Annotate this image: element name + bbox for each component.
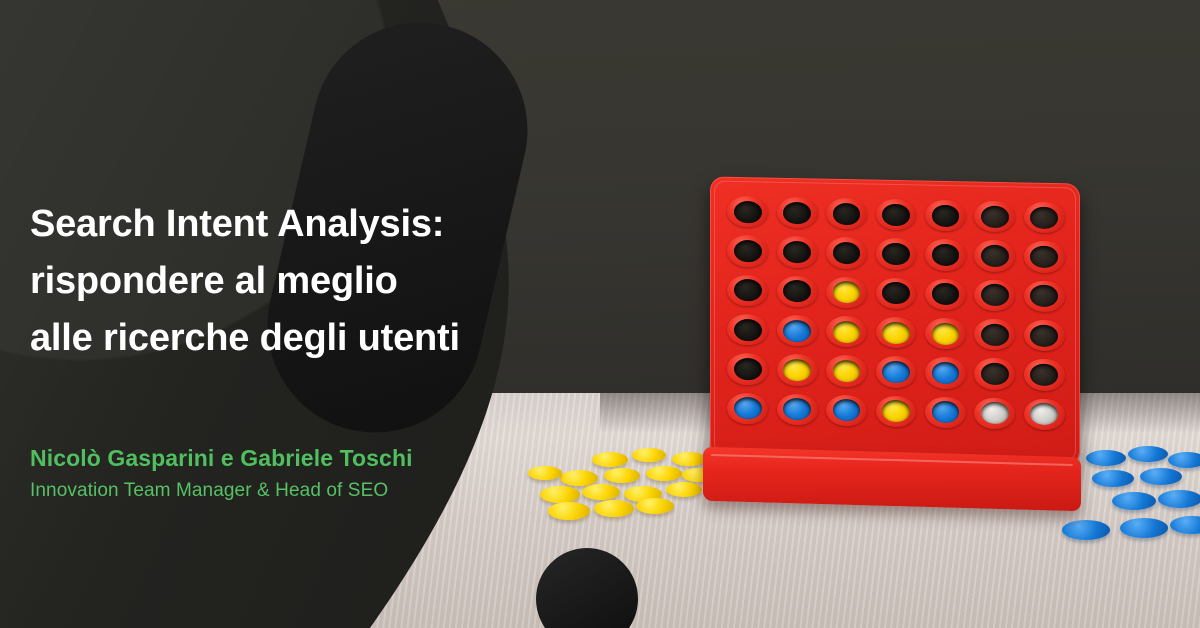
c4-slot-ring xyxy=(826,276,867,308)
c4-cell-r5-c2 xyxy=(773,351,820,389)
c4-empty-slot xyxy=(981,205,1009,227)
author-names: Nicolò Gasparini e Gabriele Toschi xyxy=(30,443,590,473)
loose-disc-blue xyxy=(1140,468,1182,485)
c4-cell-r3-c2 xyxy=(773,272,820,310)
c4-slot-ring xyxy=(1024,359,1065,391)
loose-disc-blue xyxy=(1112,492,1156,510)
c4-disc-blue xyxy=(783,398,811,420)
c4-cell-r5-c6 xyxy=(971,355,1018,393)
c4-disc-white xyxy=(981,402,1009,424)
c4-disc-blue xyxy=(783,320,811,342)
c4-slot-ring xyxy=(727,274,768,306)
c4-disc-yellow xyxy=(882,400,910,422)
c4-cell-r2-c7 xyxy=(1021,238,1068,276)
c4-disc-blue xyxy=(734,397,762,419)
c4-slot-ring xyxy=(974,358,1015,390)
c4-cell-r2-c3 xyxy=(823,234,870,272)
c4-slot-ring xyxy=(826,394,867,426)
loose-disc-yellow xyxy=(594,500,634,517)
loose-disc-blue xyxy=(1168,452,1200,468)
c4-empty-slot xyxy=(981,284,1009,306)
loose-disc-yellow xyxy=(672,452,706,466)
c4-cell-r5-c3 xyxy=(823,352,870,390)
c4-cell-r3-c5 xyxy=(922,275,969,313)
c4-slot-ring xyxy=(876,199,917,231)
title-line-3: alle ricerche degli utenti xyxy=(30,310,570,367)
c4-cell-r3-c6 xyxy=(971,276,1018,314)
loose-disc-yellow xyxy=(632,448,666,462)
loose-disc-blue xyxy=(1128,446,1168,462)
c4-cell-r5-c1 xyxy=(724,350,771,388)
c4-slot-ring xyxy=(925,396,966,428)
c4-slot-ring xyxy=(1024,241,1065,273)
title-heading: Search Intent Analysis: rispondere al me… xyxy=(30,196,570,367)
loose-disc-blue xyxy=(1120,518,1168,538)
c4-cell-r2-c6 xyxy=(971,237,1018,275)
title-line-1: Search Intent Analysis: xyxy=(30,196,570,253)
c4-disc-yellow xyxy=(882,321,910,343)
c4-slot-ring xyxy=(1024,280,1065,312)
c4-cell-r1-c6 xyxy=(971,197,1018,235)
c4-cell-r6-c3 xyxy=(823,391,870,429)
loose-disc-yellow xyxy=(592,452,628,467)
c4-cell-r4-c5 xyxy=(922,314,969,352)
c4-slot-ring xyxy=(876,277,917,309)
c4-cell-r1-c3 xyxy=(823,195,870,233)
c4-slot-ring xyxy=(925,278,966,310)
c4-cell-r5-c4 xyxy=(872,353,919,391)
c4-cell-r6-c2 xyxy=(773,390,820,428)
c4-empty-slot xyxy=(734,319,762,341)
c4-disc-yellow xyxy=(932,322,960,344)
c4-slot-ring xyxy=(876,395,917,427)
loose-disc-blue xyxy=(1062,520,1110,540)
c4-slot-ring xyxy=(876,317,917,349)
c4-slot-ring xyxy=(974,240,1015,272)
connect-four-board xyxy=(710,176,1080,465)
c4-disc-blue xyxy=(882,361,910,383)
c4-cell-r4-c4 xyxy=(872,314,919,352)
c4-slot-ring xyxy=(727,353,768,385)
c4-cell-r2-c2 xyxy=(773,233,820,271)
c4-slot-ring xyxy=(777,197,818,229)
c4-slot-ring xyxy=(727,196,768,228)
c4-slot-ring xyxy=(974,397,1015,429)
c4-empty-slot xyxy=(833,202,861,224)
c4-cell-r2-c1 xyxy=(724,232,771,270)
c4-empty-slot xyxy=(981,363,1009,385)
c4-empty-slot xyxy=(932,204,960,226)
c4-slot-ring xyxy=(777,315,818,347)
loose-disc-yellow xyxy=(636,498,674,514)
c4-disc-white xyxy=(1030,403,1058,425)
c4-cell-r4-c7 xyxy=(1021,316,1068,354)
c4-cell-r1-c2 xyxy=(773,194,820,232)
c4-empty-slot xyxy=(1030,206,1058,228)
c4-slot-ring xyxy=(974,279,1015,311)
c4-empty-slot xyxy=(734,358,762,380)
c4-slot-ring xyxy=(777,354,818,386)
c4-slot-ring xyxy=(777,275,818,307)
c4-empty-slot xyxy=(981,245,1009,267)
loose-disc-yellow xyxy=(548,502,590,520)
c4-empty-slot xyxy=(1030,364,1058,386)
c4-empty-slot xyxy=(734,201,762,223)
loose-disc-blue xyxy=(1092,470,1134,487)
c4-slot-ring xyxy=(1024,319,1065,351)
c4-cell-r3-c7 xyxy=(1021,277,1068,315)
c4-empty-slot xyxy=(833,242,861,264)
loose-disc-yellow xyxy=(646,466,682,481)
c4-slot-ring xyxy=(1024,201,1065,233)
c4-cell-r1-c4 xyxy=(872,196,919,234)
c4-slot-ring xyxy=(925,200,966,232)
c4-empty-slot xyxy=(783,241,811,263)
byline: Nicolò Gasparini e Gabriele Toschi Innov… xyxy=(30,443,590,503)
c4-cell-r6-c5 xyxy=(922,393,969,431)
c4-empty-slot xyxy=(734,279,762,301)
title-line-2: rispondere al meglio xyxy=(30,253,570,310)
c4-cell-r6-c7 xyxy=(1021,395,1068,433)
c4-slot-ring xyxy=(974,201,1015,233)
c4-cell-r1-c1 xyxy=(724,193,771,231)
author-role: Innovation Team Manager & Head of SEO xyxy=(30,479,590,503)
c4-disc-yellow xyxy=(783,359,811,381)
c4-cell-r3-c4 xyxy=(872,274,919,312)
c4-empty-slot xyxy=(1030,246,1058,268)
c4-empty-slot xyxy=(1030,324,1058,346)
c4-empty-slot xyxy=(783,202,811,224)
hero-banner: Search Intent Analysis: rispondere al me… xyxy=(0,0,1200,628)
c4-slot-ring xyxy=(727,235,768,267)
c4-cell-r1-c5 xyxy=(922,197,969,235)
connect-four-grid xyxy=(724,193,1068,434)
c4-empty-slot xyxy=(882,203,910,225)
c4-slot-ring xyxy=(777,236,818,268)
page-title: Search Intent Analysis: rispondere al me… xyxy=(30,196,570,367)
c4-empty-slot xyxy=(1030,285,1058,307)
c4-empty-slot xyxy=(932,283,960,305)
c4-slot-ring xyxy=(826,237,867,269)
c4-slot-ring xyxy=(777,393,818,425)
connect-four-base xyxy=(703,447,1081,512)
c4-slot-ring xyxy=(876,238,917,270)
c4-empty-slot xyxy=(981,323,1009,345)
c4-cell-r4-c6 xyxy=(971,315,1018,353)
c4-slot-ring xyxy=(925,239,966,271)
c4-empty-slot xyxy=(783,280,811,302)
c4-slot-ring xyxy=(826,316,867,348)
c4-slot-ring xyxy=(925,357,966,389)
c4-empty-slot xyxy=(734,240,762,262)
c4-cell-r2-c5 xyxy=(922,236,969,274)
c4-cell-r4-c2 xyxy=(773,312,820,350)
c4-slot-ring xyxy=(826,355,867,387)
c4-slot-ring xyxy=(876,356,917,388)
c4-slot-ring xyxy=(826,198,867,230)
c4-disc-yellow xyxy=(833,320,861,342)
c4-disc-blue xyxy=(833,399,861,421)
c4-disc-blue xyxy=(932,362,960,384)
c4-slot-ring xyxy=(727,392,768,424)
c4-cell-r3-c3 xyxy=(823,273,870,311)
c4-cell-r6-c6 xyxy=(971,394,1018,432)
loose-disc-yellow xyxy=(666,482,702,497)
c4-cell-r6-c4 xyxy=(872,392,919,430)
c4-cell-r5-c5 xyxy=(922,354,969,392)
c4-slot-ring xyxy=(1024,398,1065,430)
c4-disc-yellow xyxy=(833,281,861,303)
c4-cell-r2-c4 xyxy=(872,235,919,273)
loose-disc-yellow xyxy=(604,468,640,483)
c4-disc-yellow xyxy=(833,360,861,382)
c4-slot-ring xyxy=(925,318,966,350)
c4-cell-r3-c1 xyxy=(724,271,771,309)
c4-empty-slot xyxy=(882,282,910,304)
loose-disc-blue xyxy=(1158,490,1200,508)
c4-empty-slot xyxy=(932,244,960,266)
c4-cell-r4-c3 xyxy=(823,313,870,351)
c4-cell-r5-c7 xyxy=(1021,356,1068,394)
c4-cell-r4-c1 xyxy=(724,311,771,349)
c4-slot-ring xyxy=(974,318,1015,350)
c4-cell-r6-c1 xyxy=(724,389,771,427)
c4-slot-ring xyxy=(727,314,768,346)
c4-disc-blue xyxy=(932,401,960,423)
c4-empty-slot xyxy=(882,243,910,265)
loose-disc-blue xyxy=(1086,450,1126,466)
c4-cell-r1-c7 xyxy=(1021,198,1068,236)
